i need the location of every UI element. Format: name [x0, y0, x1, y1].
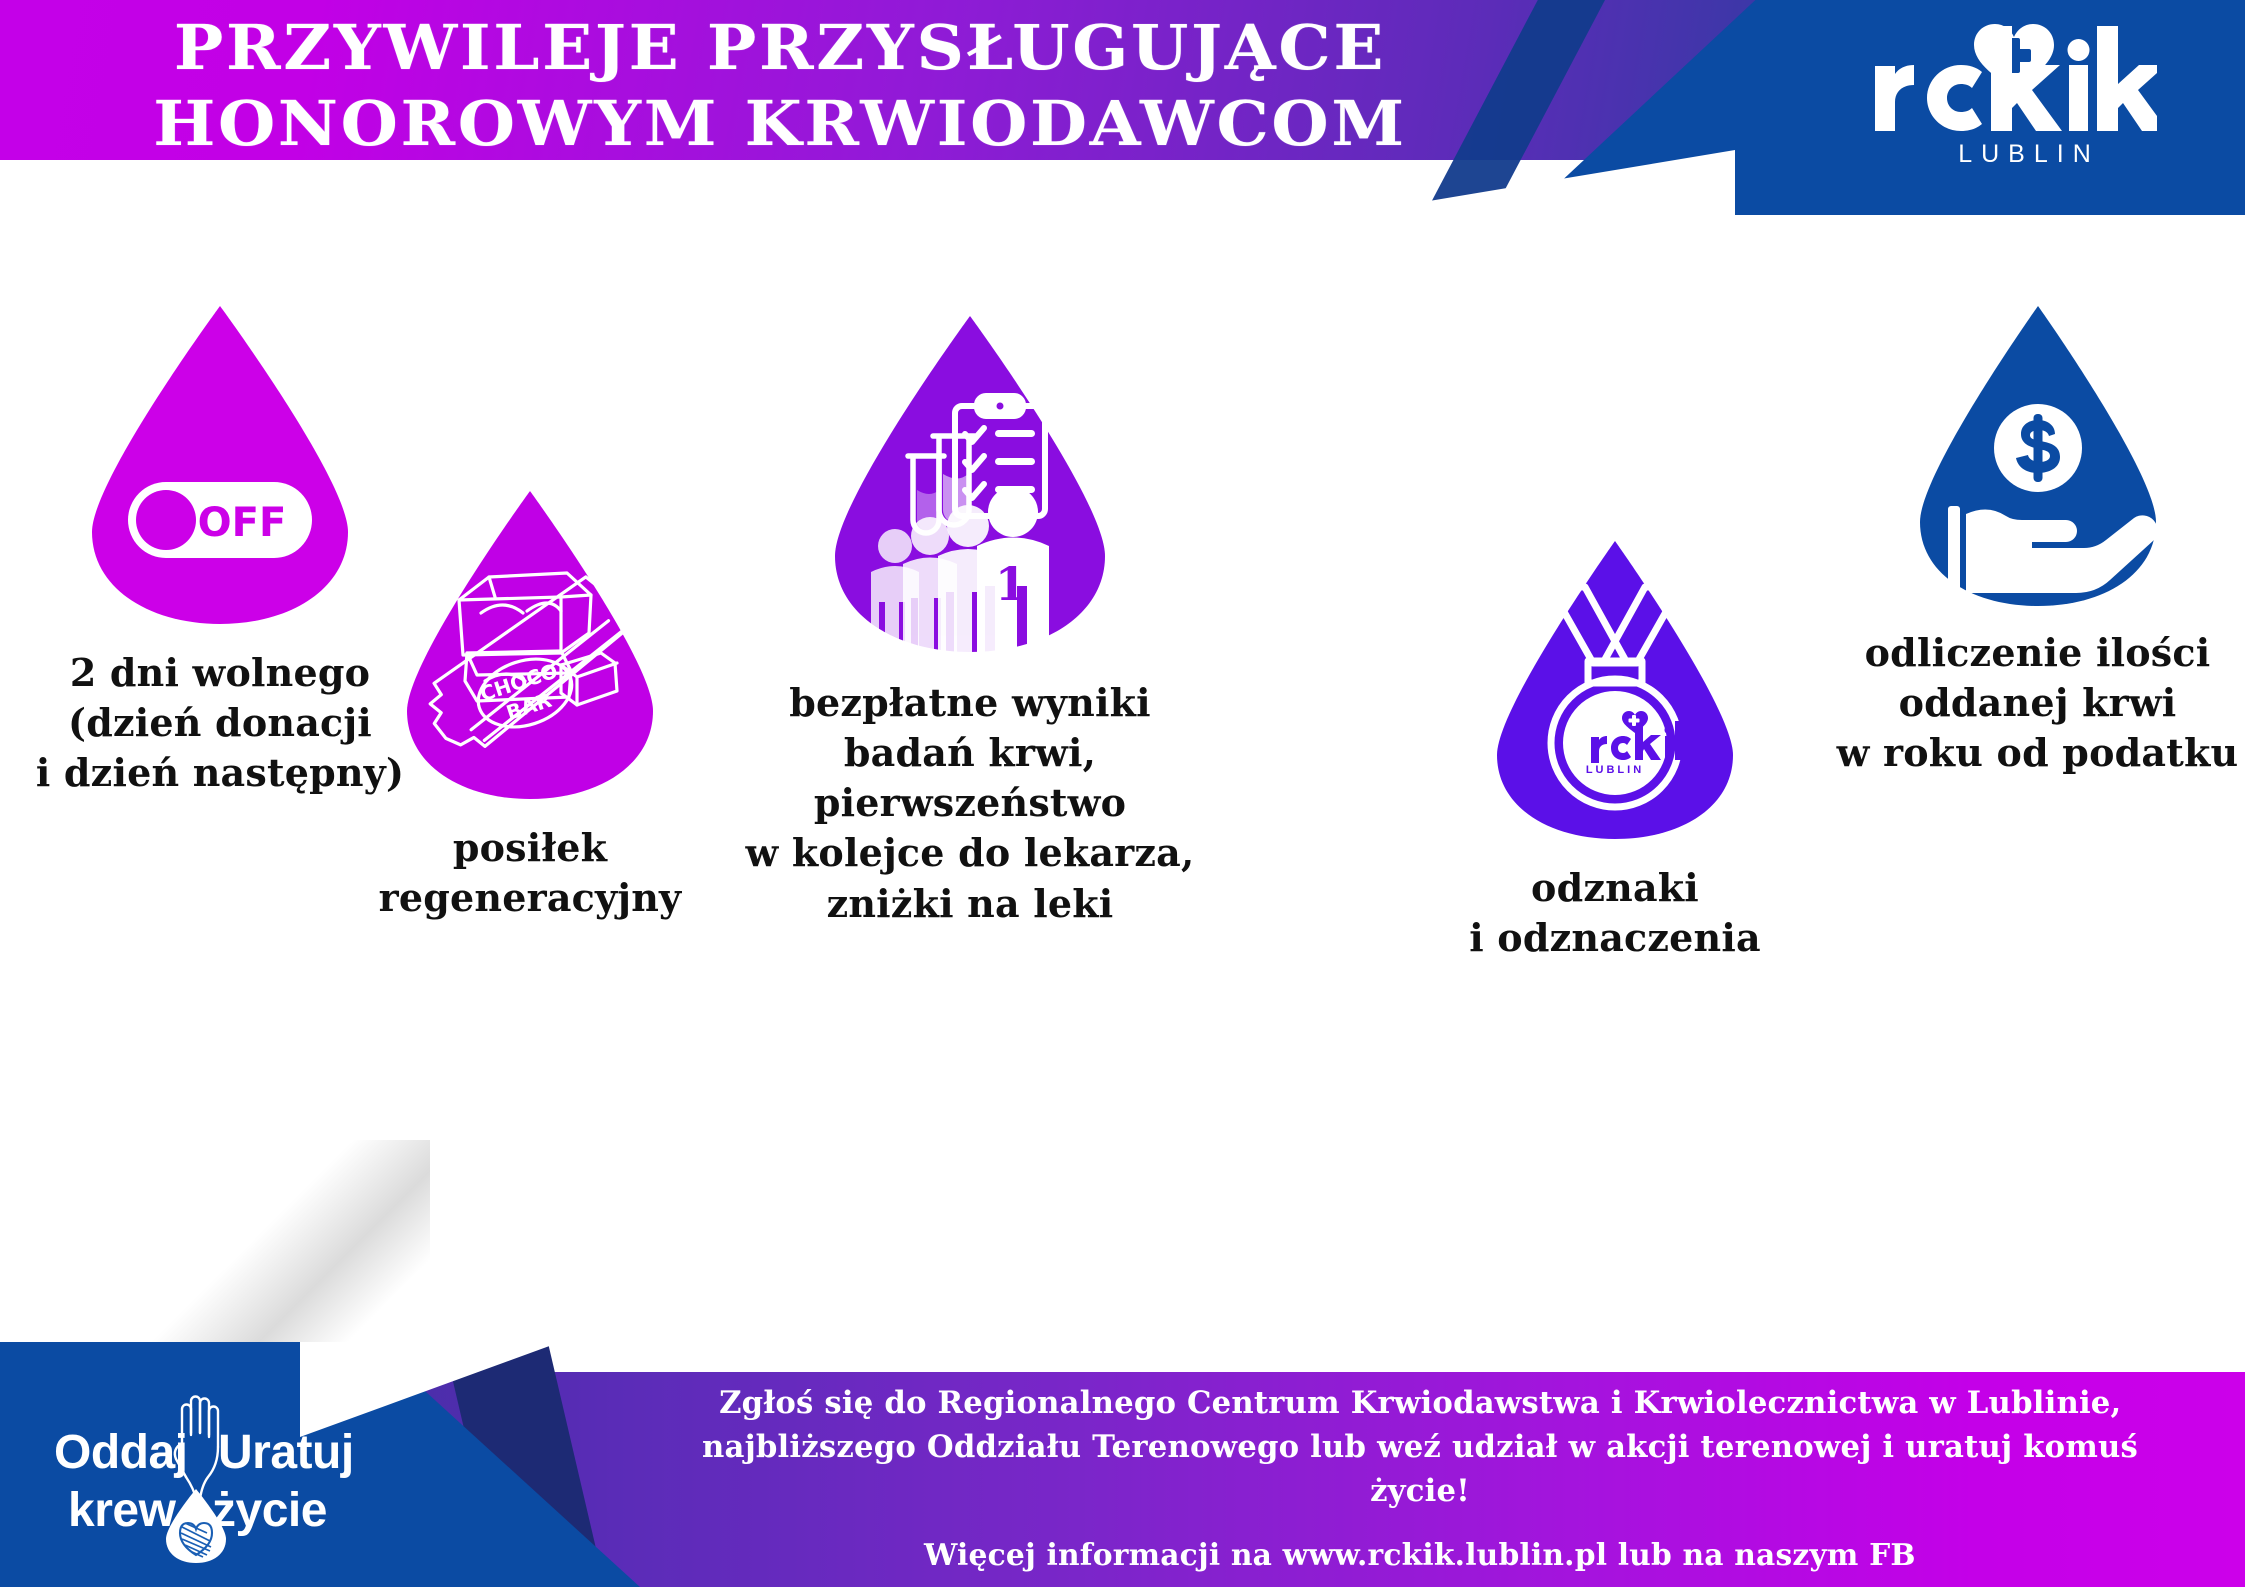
oddaj-krew-uratuj-zycie-logo: Oddaj krew Uratuj życie — [40, 1385, 440, 1565]
toggle-off-icon: OFF — [128, 482, 312, 558]
brand-word-oddaj: Oddaj — [54, 1425, 188, 1480]
benefit-caption-podatek: odliczenie ilości oddanej krwi w roku od… — [1830, 628, 2245, 778]
rckik-logo-subtitle: LUBLIN — [1909, 140, 2149, 169]
footer-line-2: najbliższego Oddziału Terenowego lub weź… — [648, 1425, 2192, 1513]
benefit-caption-badania: bezpłatne wyniki badań krwi, pierwszeńst… — [610, 678, 1330, 929]
brand-word-krew: krew — [68, 1483, 175, 1538]
benefit-caption-text: bezpłatne wyniki badań krwi, pierwszeńst… — [610, 678, 1330, 929]
benefit-item-badania: 1 bezpłatne wyniki badań krwi, pierwszeń… — [610, 310, 1330, 929]
footer-message: Zgłoś się do Regionalnego Centrum Krwiod… — [640, 1372, 2200, 1587]
benefits-area: OFF 2 dni wolnego (dzień donacji i dzień… — [0, 215, 2245, 1345]
medal-rckik-sublabel: LUBLIN — [1586, 764, 1644, 776]
droplet-medal: LUBLIN — [1330, 535, 1900, 845]
header: PRZYWILEJE PRZYSŁUGUJĄCE HONOROWYM KRWIO… — [0, 0, 2245, 215]
footer-line-3: Więcej informacji na www.rckik.lublin.pl… — [924, 1535, 1916, 1578]
benefit-item-odznaki: LUBLIN odznaki i odznaczenia — [1330, 535, 1900, 963]
benefit-caption-text: odznaki i odznaczenia — [1330, 863, 1900, 963]
page-title-line-1: PRZYWILEJE PRZYSŁUGUJĄCE — [174, 11, 1386, 84]
svg-text:OFF: OFF — [198, 500, 287, 546]
brand-word-uratuj: Uratuj — [218, 1425, 354, 1480]
queue-number-label: 1 — [995, 557, 1027, 611]
droplet-queue: 1 — [610, 310, 1330, 660]
benefit-caption-text: odliczenie ilości oddanej krwi w roku od… — [1830, 628, 2245, 778]
footer-line-1: Zgłoś się do Regionalnego Centrum Krwiod… — [719, 1381, 2121, 1425]
brand-word-zycie: życie — [212, 1483, 327, 1538]
droplet-money — [1830, 300, 2245, 610]
poster-root: PRZYWILEJE PRZYSŁUGUJĄCE HONOROWYM KRWIO… — [0, 0, 2245, 1587]
benefit-item-podatek: odliczenie ilości oddanej krwi w roku od… — [1830, 300, 2245, 778]
footer: Oddaj krew Uratuj życie Zgłoś się do Reg… — [0, 1342, 2245, 1587]
page-title: PRZYWILEJE PRZYSŁUGUJĄCE HONOROWYM KRWIO… — [0, 14, 1607, 158]
page-title-line-2: HONOROWYM KRWIODAWCOM — [0, 90, 1607, 158]
benefit-caption-odznaki: odznaki i odznaczenia — [1330, 863, 1900, 963]
